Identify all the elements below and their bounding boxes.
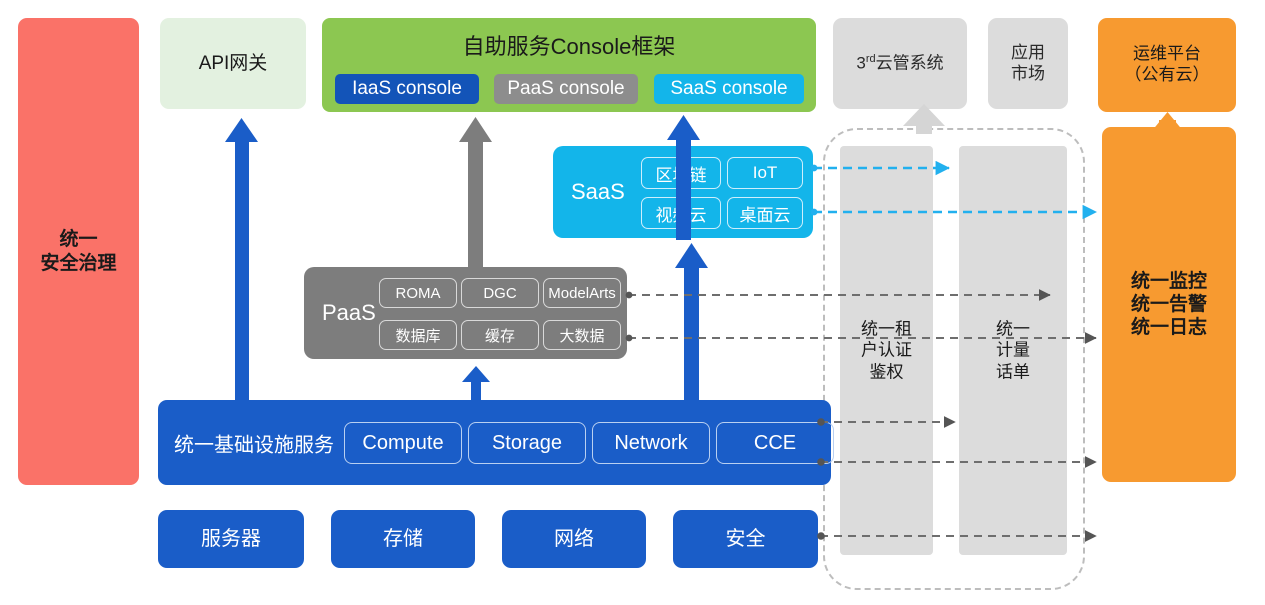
console-chip-saas[interactable]: SaaS console (654, 74, 804, 104)
paas-chip-database[interactable]: 数据库 (379, 320, 457, 350)
paas-chip-cache[interactable]: 缓存 (461, 320, 539, 350)
saas-chip-desktop-cloud[interactable]: 桌面云 (727, 197, 803, 229)
console-framework-box: 自助服务Console框架 IaaS console PaaS console … (322, 18, 816, 112)
ops-platform-label: 运维平台（公有云） (1125, 44, 1210, 85)
api-gateway-label: API网关 (199, 52, 268, 75)
arrow-infra-to-api-gateway (225, 118, 258, 400)
arrow-infra-to-saas (675, 243, 708, 400)
infra-chip-network[interactable]: Network (592, 422, 710, 464)
app-market-box: 应用市场 (988, 18, 1068, 109)
security-governance-label: 统一安全治理 (40, 228, 116, 274)
saas-layer-label: SaaS (571, 179, 625, 205)
saas-chip-blockchain[interactable]: 区块链 (641, 157, 721, 189)
paas-layer-box: PaaS ROMA DGC ModelArts 数据库 缓存 大数据 (304, 267, 627, 359)
shared-column-metering: 统一计量话单 (959, 146, 1067, 555)
ops-platform-box: 运维平台（公有云） (1098, 18, 1236, 112)
arrow-infra-to-paas (462, 366, 490, 400)
hardware-box-network: 网络 (502, 510, 646, 568)
console-framework-title: 自助服务Console框架 (322, 34, 816, 61)
ops-monitoring-label: 统一监控统一告警统一日志 (1131, 270, 1207, 340)
saas-chip-iot[interactable]: IoT (727, 157, 803, 189)
shared-column-tenant-auth-label: 统一租户认证鉴权 (840, 318, 933, 383)
infrastructure-service-bar: 统一基础设施服务 Compute Storage Network CCE (158, 400, 831, 485)
paas-layer-label: PaaS (322, 300, 376, 326)
paas-chip-bigdata[interactable]: 大数据 (543, 320, 621, 350)
infra-chip-cce[interactable]: CCE (716, 422, 834, 464)
paas-chip-roma[interactable]: ROMA (379, 278, 457, 308)
shared-column-metering-label: 统一计量话单 (959, 318, 1067, 383)
hardware-box-server: 服务器 (158, 510, 304, 568)
infra-chip-storage[interactable]: Storage (468, 422, 586, 464)
hardware-box-security: 安全 (673, 510, 818, 568)
console-chip-iaas[interactable]: IaaS console (335, 74, 479, 104)
ops-monitoring-panel: 统一监控统一告警统一日志 (1102, 127, 1236, 482)
arrow-paas-to-console (459, 117, 492, 267)
paas-chip-modelarts[interactable]: ModelArts (543, 278, 621, 308)
infrastructure-service-label: 统一基础设施服务 (174, 428, 334, 457)
architecture-diagram: 统一安全治理 API网关 自助服务Console框架 IaaS console … (0, 0, 1265, 605)
hardware-box-storage: 存储 (331, 510, 475, 568)
saas-layer-box: SaaS 区块链 IoT 视频云 桌面云 (553, 146, 813, 238)
infra-chip-compute[interactable]: Compute (344, 422, 462, 464)
third-party-cloud-label: 3rd云管系统 (856, 53, 943, 74)
saas-chip-video-cloud[interactable]: 视频云 (641, 197, 721, 229)
security-governance-panel: 统一安全治理 (18, 18, 139, 485)
shared-column-tenant-auth: 统一租户认证鉴权 (840, 146, 933, 555)
paas-chip-dgc[interactable]: DGC (461, 278, 539, 308)
api-gateway-box: API网关 (160, 18, 306, 109)
third-party-cloud-box: 3rd云管系统 (833, 18, 967, 109)
console-chip-paas[interactable]: PaaS console (494, 74, 638, 104)
app-market-label: 应用市场 (1011, 43, 1045, 84)
